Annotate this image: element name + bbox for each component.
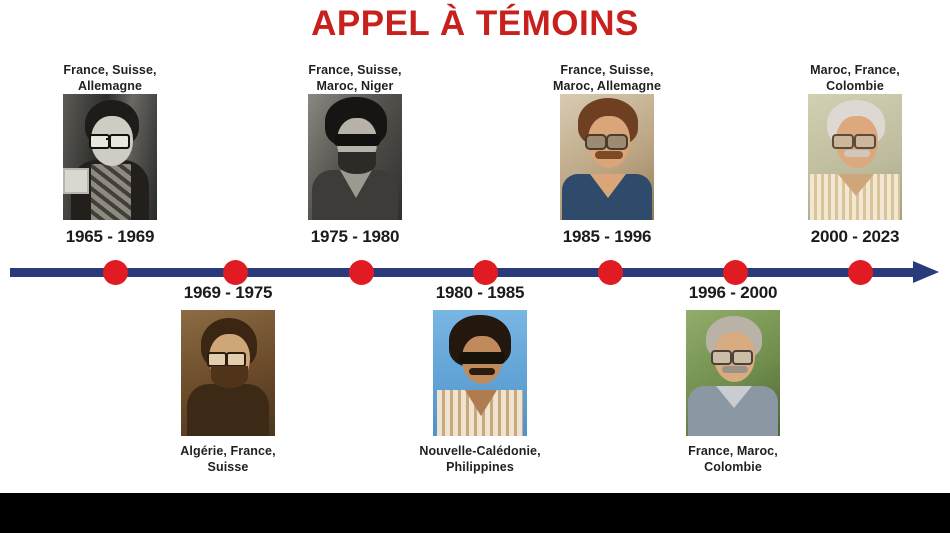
entry-period-4: 1980 - 1985: [385, 282, 575, 304]
entry-countries-1-line2: Allemagne: [78, 79, 142, 93]
timeline-entry-1975-1980[interactable]: France, Suisse, Maroc, Niger 1975 - 1980: [260, 62, 450, 248]
entry-photo-wrap-3: [260, 94, 450, 220]
slide-canvas: APPEL À TÉMOINS France, Suisse, Allemagn…: [0, 0, 950, 493]
entry-countries-5: France, Suisse, Maroc, Allemagne: [512, 62, 702, 94]
entry-countries-2-line2: Suisse: [208, 460, 249, 474]
entry-photo-wrap-2: [133, 310, 323, 436]
portrait-photo-1969-1975: [181, 310, 275, 436]
timeline-arrow-icon: [913, 261, 939, 283]
entry-period-1: 1965 - 1969: [15, 226, 205, 248]
page-title: APPEL À TÉMOINS: [0, 2, 950, 46]
portrait-photo-1980-1985: [433, 310, 527, 436]
entry-photo-wrap-5: [512, 94, 702, 220]
timeline-entry-2000-2023[interactable]: Maroc, France, Colombie 2000 - 2023: [760, 62, 950, 248]
portrait-photo-1965-1969: [63, 94, 157, 220]
timeline-dot-5[interactable]: [598, 260, 623, 285]
timeline-entry-1965-1969[interactable]: France, Suisse, Allemagne 1965 - 1969: [15, 62, 205, 248]
entry-countries-4: Nouvelle-Calédonie, Philippines: [385, 443, 575, 475]
entry-countries-3-line1: France, Suisse,: [308, 63, 401, 77]
entry-period-6: 1996 - 2000: [638, 282, 828, 304]
timeline-dot-7[interactable]: [848, 260, 873, 285]
timeline-entry-1980-1985[interactable]: 1980 - 1985 Nouvelle-Calédonie, Philippi…: [385, 282, 575, 475]
entry-countries-6: France, Maroc, Colombie: [638, 443, 828, 475]
entry-countries-7-line1: Maroc, France,: [810, 63, 900, 77]
entry-period-7: 2000 - 2023: [760, 226, 950, 248]
portrait-photo-2000-2023: [808, 94, 902, 220]
entry-countries-5-line1: France, Suisse,: [560, 63, 653, 77]
entry-countries-1-line1: France, Suisse,: [63, 63, 156, 77]
entry-photo-wrap-4: [385, 310, 575, 436]
entry-countries-2-line1: Algérie, France,: [180, 444, 275, 458]
entry-countries-3-line2: Maroc, Niger: [317, 79, 394, 93]
entry-period-5: 1985 - 1996: [512, 226, 702, 248]
timeline-entry-1996-2000[interactable]: 1996 - 2000 France, Maroc, Colombie: [638, 282, 828, 475]
portrait-photo-1996-2000: [686, 310, 780, 436]
timeline-dot-3[interactable]: [349, 260, 374, 285]
timeline-entry-1985-1996[interactable]: France, Suisse, Maroc, Allemagne 1985 - …: [512, 62, 702, 248]
entry-countries-2: Algérie, France, Suisse: [133, 443, 323, 475]
entry-countries-6-line2: Colombie: [704, 460, 762, 474]
portrait-photo-1975-1980: [308, 94, 402, 220]
bottom-letterbox-bar: [0, 493, 950, 533]
entry-period-2: 1969 - 1975: [133, 282, 323, 304]
entry-countries-5-line2: Maroc, Allemagne: [553, 79, 661, 93]
timeline-line: [10, 268, 915, 277]
entry-photo-wrap-6: [638, 310, 828, 436]
entry-photo-wrap-7: [760, 94, 950, 220]
portrait-photo-1985-1996: [560, 94, 654, 220]
entry-countries-7: Maroc, France, Colombie: [760, 62, 950, 94]
entry-countries-6-line1: France, Maroc,: [688, 444, 778, 458]
timeline-axis[interactable]: [10, 262, 940, 284]
entry-countries-7-line2: Colombie: [826, 79, 884, 93]
entry-countries-3: France, Suisse, Maroc, Niger: [260, 62, 450, 94]
entry-countries-4-line1: Nouvelle-Calédonie,: [419, 444, 540, 458]
entry-countries-4-line2: Philippines: [446, 460, 514, 474]
entry-period-3: 1975 - 1980: [260, 226, 450, 248]
timeline-dot-1[interactable]: [103, 260, 128, 285]
timeline-entry-1969-1975[interactable]: 1969 - 1975 Algérie, France, Suisse: [133, 282, 323, 475]
entry-countries-1: France, Suisse, Allemagne: [15, 62, 205, 94]
entry-photo-wrap-1: [15, 94, 205, 220]
